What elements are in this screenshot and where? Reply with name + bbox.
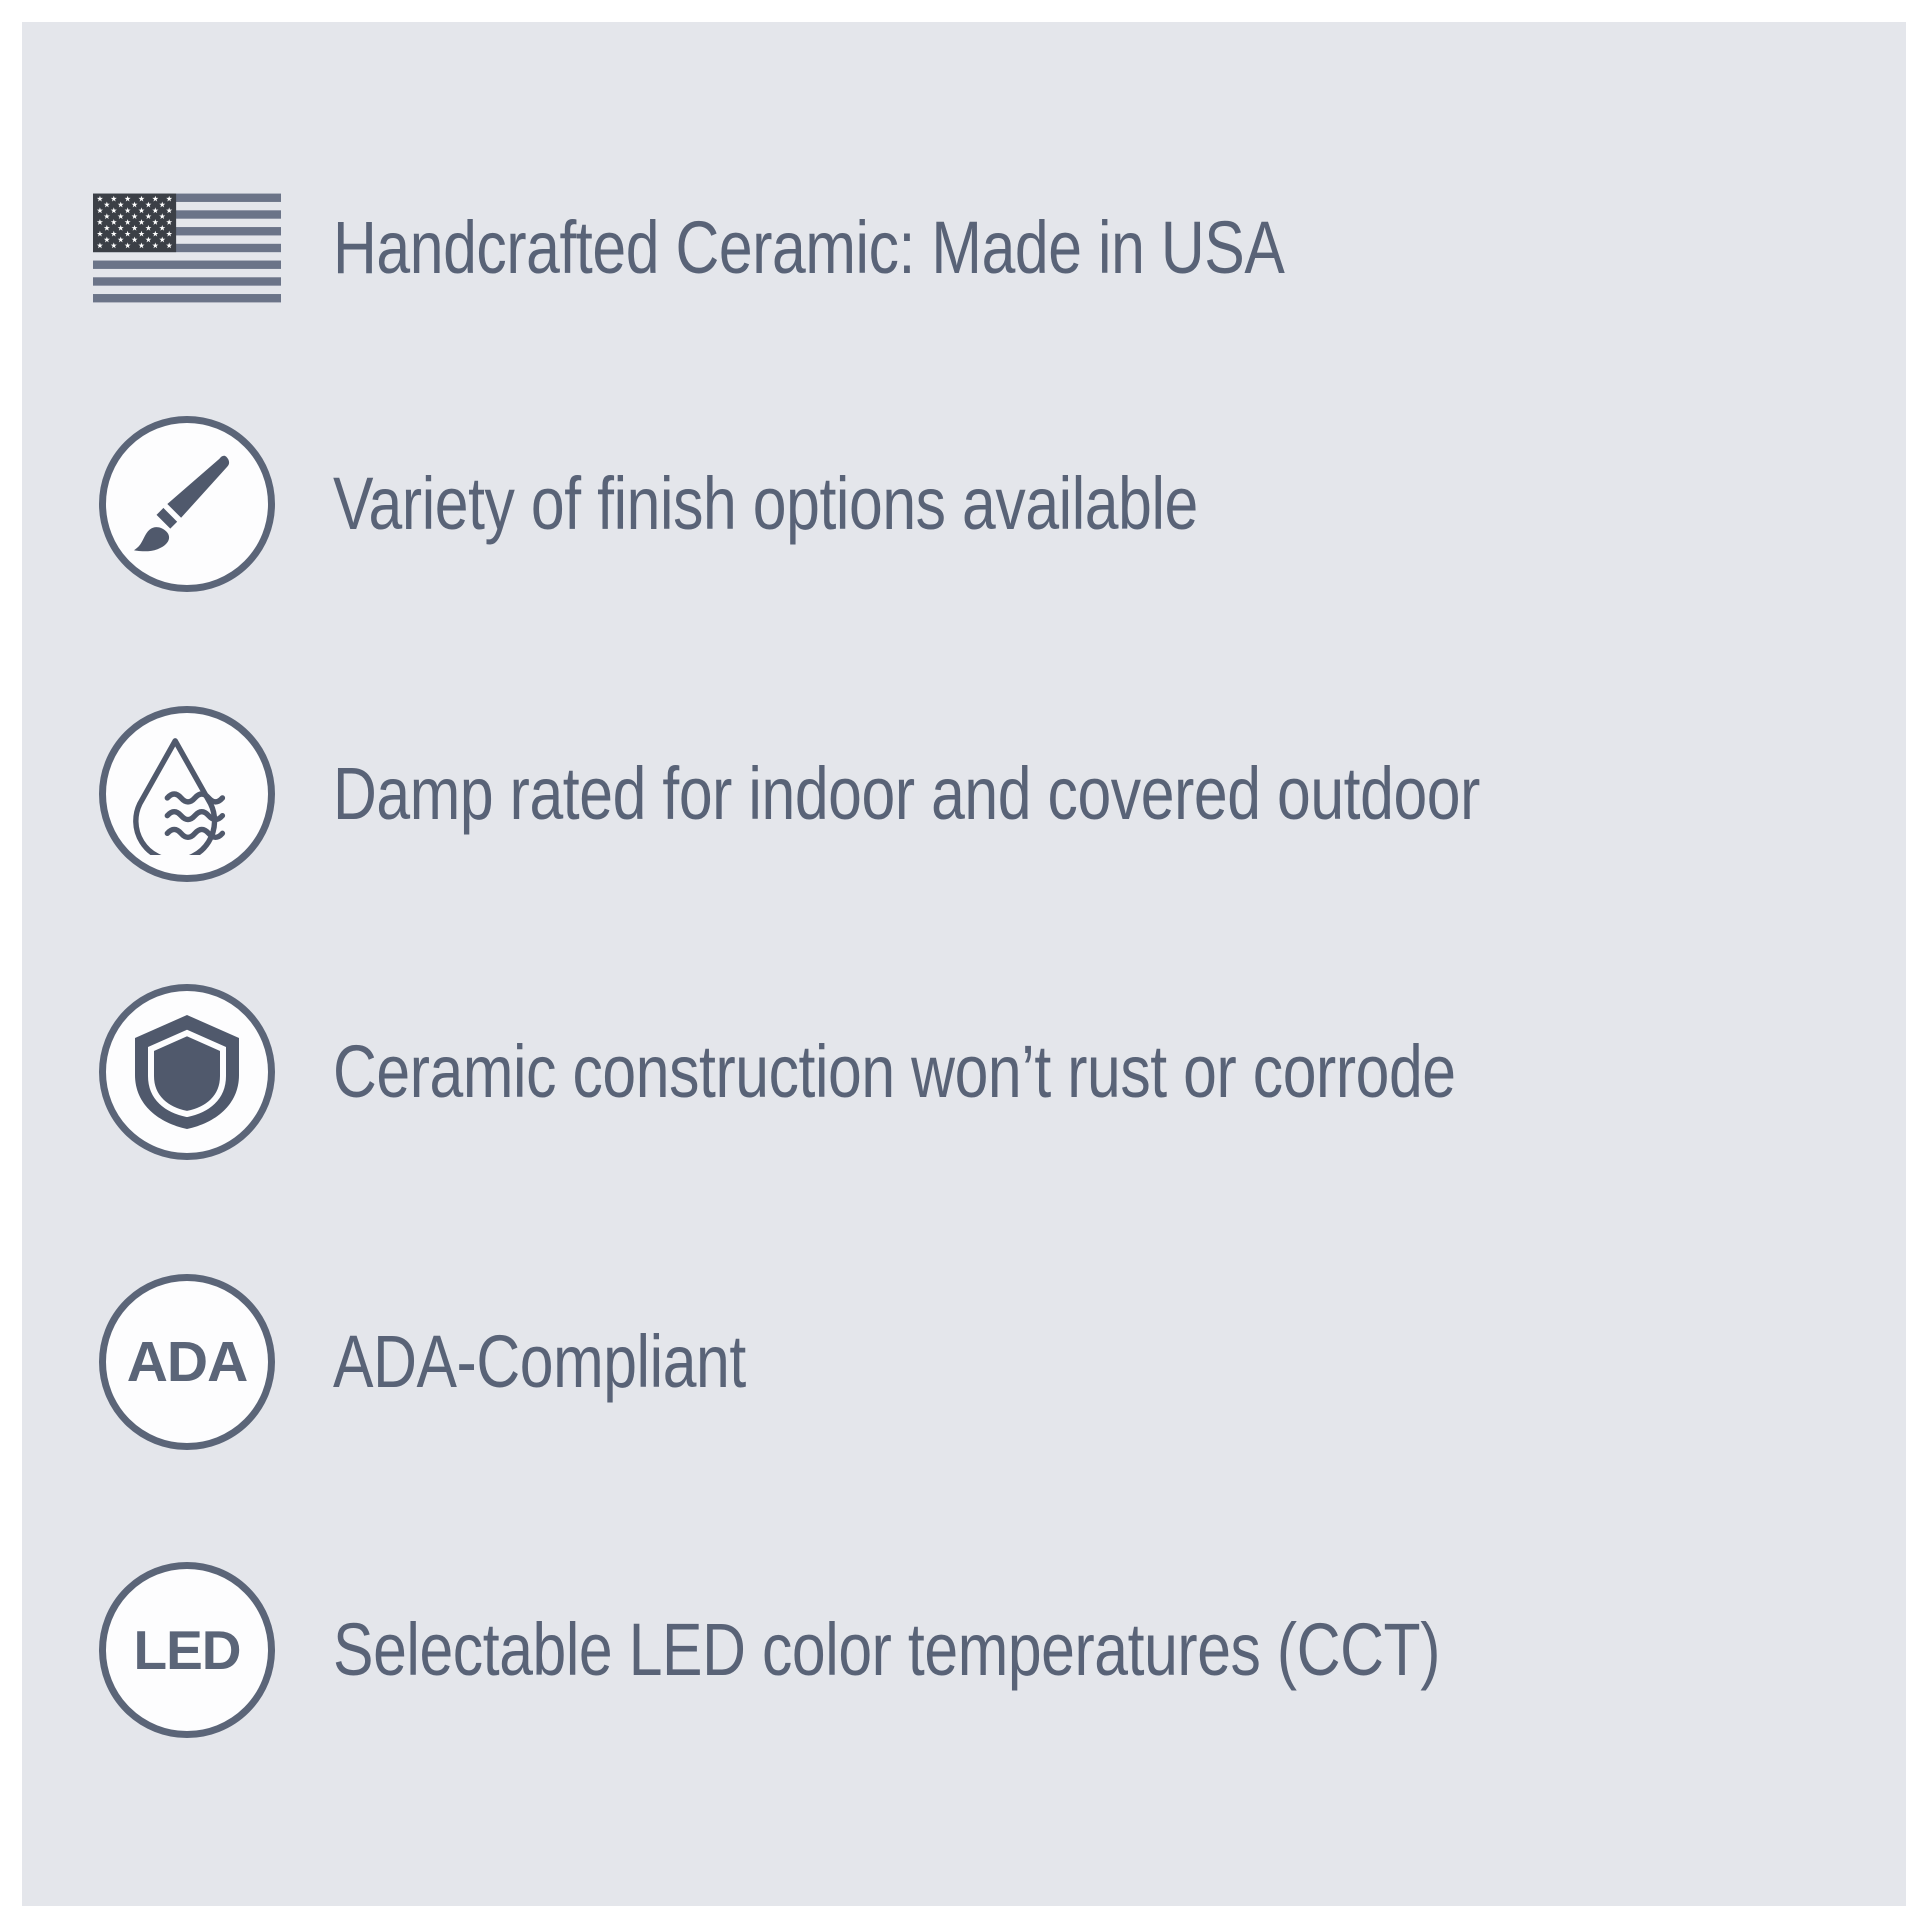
paintbrush-icon [99, 416, 275, 592]
usa-flag-icon [87, 148, 287, 348]
water-drop-waves-icon-slot [87, 694, 287, 894]
water-drop-waves-icon [99, 706, 275, 882]
feature-row: Variety of finish options available [87, 404, 1887, 604]
feature-row: Handcrafted Ceramic: Made in USA [87, 148, 1887, 348]
feature-label: Handcrafted Ceramic: Made in USA [333, 207, 1284, 288]
feature-row: Damp rated for indoor and covered outdoo… [87, 694, 1887, 894]
feature-label: Ceramic construction won’t rust or corro… [333, 1031, 1456, 1112]
ada-badge-icon: ADA [99, 1274, 275, 1450]
led-badge-icon-slot: LED [87, 1550, 287, 1750]
feature-row: ADA ADA-Compliant [87, 1262, 1887, 1462]
feature-label: Selectable LED color temperatures (CCT) [333, 1609, 1440, 1690]
feature-list: Handcrafted Ceramic: Made in USA Variety… [22, 22, 1906, 1906]
paintbrush-icon-slot [87, 404, 287, 604]
ada-badge-label: ADA [127, 1334, 248, 1391]
ada-badge-icon-slot: ADA [87, 1262, 287, 1462]
feature-label: Variety of finish options available [333, 463, 1198, 544]
shield-icon [99, 984, 275, 1160]
feature-panel: Handcrafted Ceramic: Made in USA Variety… [22, 22, 1906, 1906]
feature-row: LED Selectable LED color temperatures (C… [87, 1550, 1887, 1750]
led-badge-icon: LED [99, 1562, 275, 1738]
feature-label: ADA-Compliant [333, 1321, 746, 1402]
led-badge-label: LED [134, 1623, 241, 1678]
feature-row: Ceramic construction won’t rust or corro… [87, 972, 1887, 1172]
shield-icon-slot [87, 972, 287, 1172]
feature-label: Damp rated for indoor and covered outdoo… [333, 753, 1480, 834]
